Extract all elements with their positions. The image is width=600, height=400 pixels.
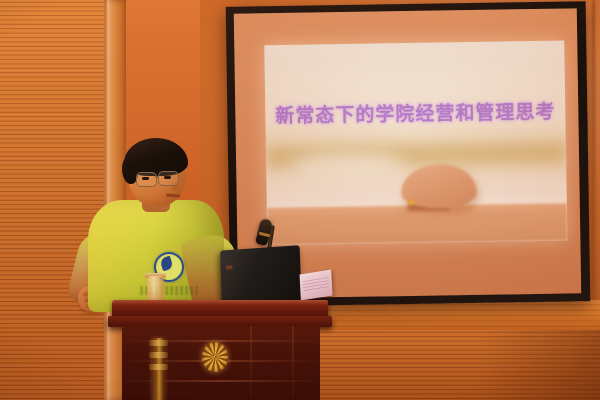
presenter-nose (172, 181, 179, 190)
wall-seam (592, 0, 595, 330)
slide-title: 新常态下的学院经营和管理思考 (265, 97, 565, 129)
presenter-hair (124, 138, 188, 176)
podium-top-sheen (112, 300, 328, 305)
column-ring (149, 364, 168, 370)
podium-brass-column (152, 338, 165, 400)
podium-panel-split (250, 326, 252, 400)
note-card (300, 269, 333, 300)
photo-scene: 新常态下的学院经营和管理思考 (0, 0, 600, 400)
projected-slide: 新常态下的学院经营和管理思考 (264, 41, 567, 246)
column-ring (149, 340, 168, 346)
column-ring (149, 352, 168, 358)
wainscot-shadow (480, 330, 600, 400)
podium-panel-split (292, 326, 294, 400)
laptop-icon (220, 245, 302, 304)
slide-object-highlight (408, 199, 415, 205)
presenter-left-eye (142, 177, 149, 180)
laptop-logo-icon (226, 265, 232, 269)
glasses-bridge-icon (155, 176, 159, 178)
laptop-lid (220, 245, 302, 304)
presenter-right-eye (164, 176, 171, 179)
cup-icon (147, 276, 164, 302)
podium (108, 300, 332, 400)
slide-background-blob (290, 151, 404, 181)
note-card-ruling (303, 275, 329, 293)
podium-medallion-icon (202, 342, 228, 372)
